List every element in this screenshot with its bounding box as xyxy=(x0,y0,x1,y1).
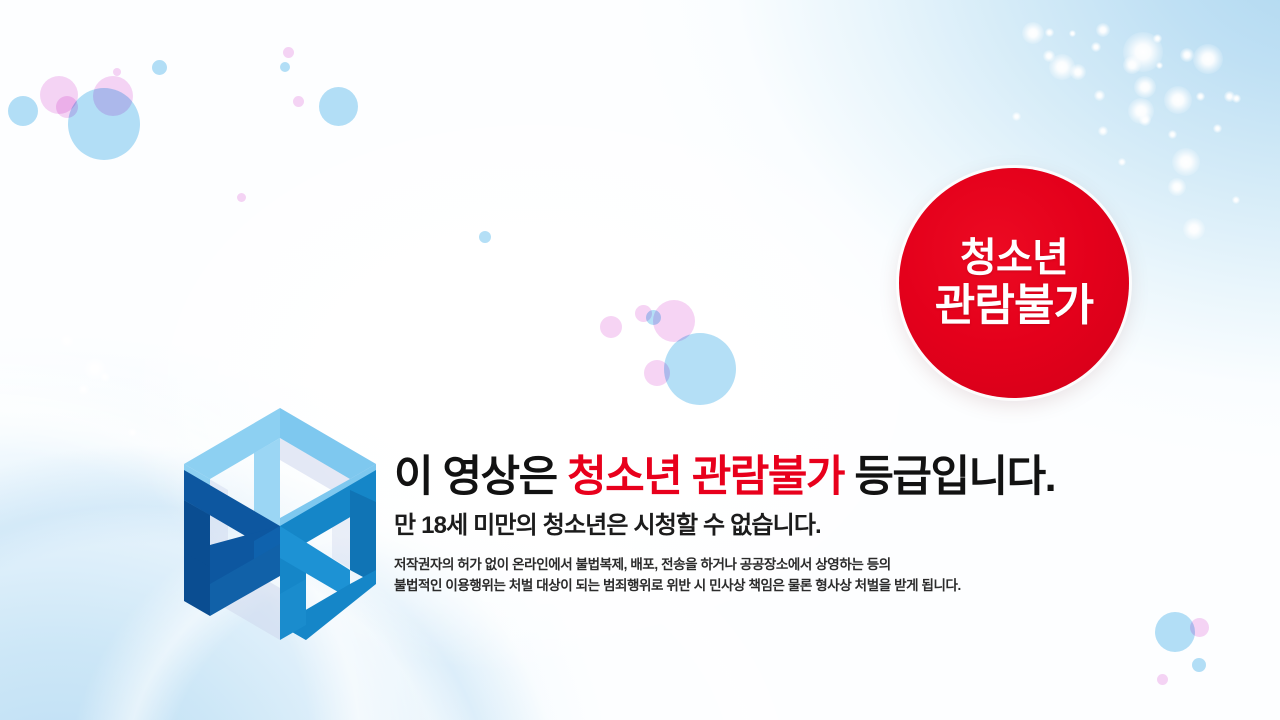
page-title: 이 영상은 청소년 관람불가 등급입니다. xyxy=(394,452,1154,503)
rating-badge-line-2: 관람불가 xyxy=(935,283,1093,329)
headline-accent: 청소년 관람불가 xyxy=(567,453,844,501)
headline-prefix: 이 영상은 xyxy=(394,453,567,501)
legal-notice-line-1: 저작권자의 허가 없이 온라인에서 불법복제, 배포, 전송을 하거나 공공장소… xyxy=(394,554,1154,576)
rating-badge: 청소년 관람불가 xyxy=(899,168,1129,398)
headline-suffix: 등급입니다. xyxy=(844,453,1055,501)
message-block: 이 영상은 청소년 관람불가 등급입니다. 만 18세 미만의 청소년은 시청할… xyxy=(394,452,1154,597)
age-rating-notice-screen: 청소년 관람불가 xyxy=(0,0,1280,720)
legal-notice: 저작권자의 허가 없이 온라인에서 불법복제, 배포, 전송을 하거나 공공장소… xyxy=(394,554,1154,598)
legal-notice-line-2: 불법적인 이용행위는 처벌 대상이 되는 범죄행위로 위반 시 민사상 책임은 … xyxy=(394,575,1154,597)
rating-badge-line-1: 청소년 xyxy=(960,237,1068,279)
hexagon-brand-logo xyxy=(168,404,392,644)
page-subtitle: 만 18세 미만의 청소년은 시청할 수 없습니다. xyxy=(394,512,1154,541)
